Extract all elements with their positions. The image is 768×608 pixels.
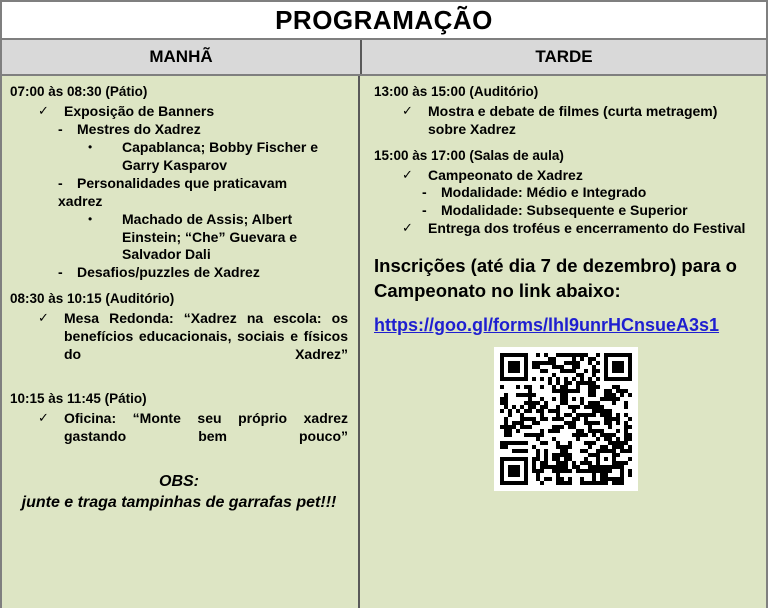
schedule-column-manha: 07:00 às 08:30 (Pátio)✓Exposição de Bann… — [2, 76, 360, 608]
programacao-poster: PROGRAMAÇÃO MANHÃ TARDE 07:00 às 08:30 (… — [0, 0, 768, 608]
column-headers-row: MANHÃ TARDE — [2, 40, 766, 76]
schedule-block: 13:00 às 15:00 (Auditório)✓Mostra e deba… — [374, 84, 758, 139]
qr-code-grid — [500, 353, 632, 485]
obs-text: junte e traga tampinhas de garrafas pet!… — [10, 493, 348, 514]
schedule-item-label: Oficina: “Monte seu próprio xadrez gasta… — [64, 410, 348, 464]
schedule-block: 10:15 às 11:45 (Pátio)✓Oficina: “Monte s… — [10, 391, 348, 464]
dash-icon: - — [422, 184, 441, 202]
schedule-item-level-1: ✓Campeonato de Xadrez — [402, 167, 758, 185]
schedule-item-label: Entrega dos troféus e encerramento do Fe… — [428, 220, 758, 238]
page-title: PROGRAMAÇÃO — [275, 7, 493, 33]
dash-icon: - — [58, 264, 77, 282]
schedule-column-tarde: 13:00 às 15:00 (Auditório)✓Mostra e deba… — [360, 76, 766, 608]
dash-icon: - — [422, 202, 441, 220]
column-header-tarde: TARDE — [362, 40, 766, 74]
schedule-item-level-1: ✓Mostra e debate de filmes (curta metrag… — [402, 103, 758, 139]
schedule-item-level-2: -Mestres do Xadrez — [58, 121, 348, 139]
schedule-item-label: Mesa Redonda: “Xadrez na escola: os bene… — [64, 310, 348, 382]
checkmark-icon: ✓ — [402, 167, 428, 185]
checkmark-icon: ✓ — [38, 310, 64, 382]
schedule-item-level-2: -Modalidade: Subsequente e Superior — [422, 202, 758, 220]
schedule-item-label: Machado de Assis; Albert Einstein; “Che”… — [122, 211, 348, 265]
schedule-time-label: 15:00 às 17:00 (Salas de aula) — [374, 148, 758, 165]
schedule-item-label: Mostra e debate de filmes (curta metrage… — [428, 103, 758, 139]
schedule-item-label: Exposição de Banners — [64, 103, 348, 121]
schedule-item-level-3: •Capablanca; Bobby Fischer e Garry Kaspa… — [88, 139, 348, 175]
schedule-item-level-3: •Machado de Assis; Albert Einstein; “Che… — [88, 211, 348, 265]
obs-label: OBS: — [10, 472, 348, 493]
checkmark-icon: ✓ — [38, 103, 64, 121]
checkmark-icon: ✓ — [38, 410, 64, 464]
schedule-item-level-1: ✓Exposição de Banners — [38, 103, 348, 121]
schedule-item-label: Personalidades que praticavam — [77, 175, 348, 193]
schedule-item-label: Modalidade: Médio e Integrado — [441, 184, 758, 202]
poster-title-row: PROGRAMAÇÃO — [2, 0, 766, 40]
schedule-item-level-1: ✓Oficina: “Monte seu próprio xadrez gast… — [38, 410, 348, 464]
bullet-icon: • — [88, 211, 122, 265]
obs-note: OBS:junte e traga tampinhas de garrafas … — [10, 472, 348, 514]
schedule-item-label: Desafios/puzzles de Xadrez — [77, 264, 348, 282]
schedule-time-label: 08:30 às 10:15 (Auditório) — [10, 291, 348, 308]
schedule-item-level-2: -Modalidade: Médio e Integrado — [422, 184, 758, 202]
schedule-time-label: 07:00 às 08:30 (Pátio) — [10, 84, 348, 101]
schedule-time-label: 10:15 às 11:45 (Pátio) — [10, 391, 348, 408]
qr-code-inscricoes[interactable] — [494, 347, 638, 491]
schedule-item-level-1: ✓Entrega dos troféus e encerramento do F… — [402, 220, 758, 238]
registration-callout: Inscrições (até dia 7 de dezembro) para … — [374, 254, 758, 303]
checkmark-icon: ✓ — [402, 220, 428, 238]
schedule-item-level-2: -Desafios/puzzles de Xadrez — [58, 264, 348, 282]
schedule-item-label: Mestres do Xadrez — [77, 121, 348, 139]
registration-link-wrapper: https://goo.gl/forms/lhl9unrHCnsueA3s1 — [374, 315, 758, 337]
schedule-item-label: Campeonato de Xadrez — [428, 167, 758, 185]
schedule-block: 07:00 às 08:30 (Pátio)✓Exposição de Bann… — [10, 84, 348, 282]
column-header-manha: MANHÃ — [2, 40, 362, 74]
schedule-item-continuation: xadrez — [58, 192, 348, 210]
schedule-block: 15:00 às 17:00 (Salas de aula)✓Campeonat… — [374, 148, 758, 239]
schedule-item-level-2: -Personalidades que praticavam — [58, 175, 348, 193]
schedule-time-label: 13:00 às 15:00 (Auditório) — [374, 84, 758, 101]
checkmark-icon: ✓ — [402, 103, 428, 139]
qr-code-holder — [374, 347, 758, 491]
schedule-item-level-1: ✓Mesa Redonda: “Xadrez na escola: os ben… — [38, 310, 348, 382]
schedule-body: 07:00 às 08:30 (Pátio)✓Exposição de Bann… — [2, 76, 766, 608]
registration-link[interactable]: https://goo.gl/forms/lhl9unrHCnsueA3s1 — [374, 315, 719, 335]
schedule-item-label: Modalidade: Subsequente e Superior — [441, 202, 758, 220]
schedule-block: 08:30 às 10:15 (Auditório)✓Mesa Redonda:… — [10, 291, 348, 382]
schedule-item-label: Capablanca; Bobby Fischer e Garry Kaspar… — [122, 139, 348, 175]
dash-icon: - — [58, 175, 77, 193]
dash-icon: - — [58, 121, 77, 139]
bullet-icon: • — [88, 139, 122, 175]
